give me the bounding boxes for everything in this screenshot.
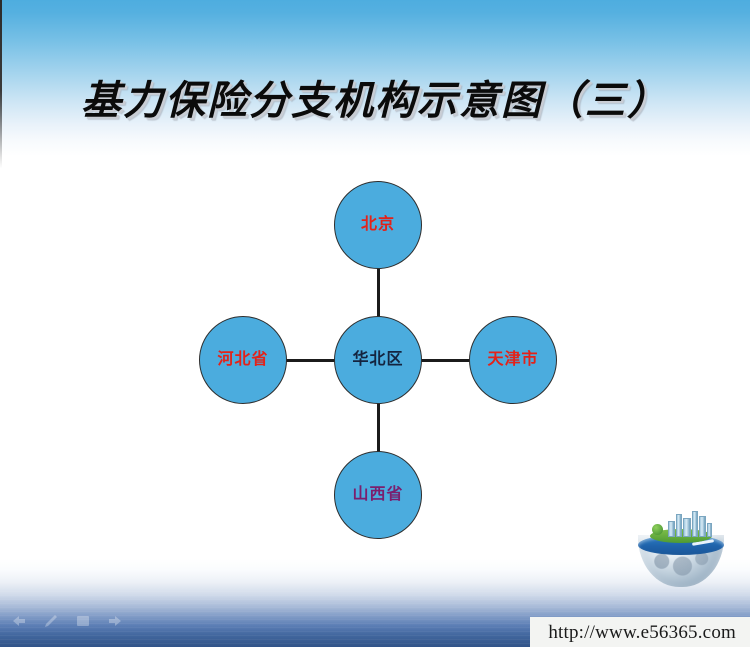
previous-arrow-icon[interactable] (10, 613, 28, 629)
site-url-watermark: http://www.e56365.com (548, 622, 736, 644)
slide-canvas: 基力保险分支机构示意图（三） 北京 河北省 华北区 天津市 山西省 (0, 0, 750, 647)
tree-icon (652, 524, 663, 535)
page-icon[interactable] (74, 613, 92, 629)
node-center-huabei[interactable]: 华北区 (334, 316, 422, 404)
node-label-center: 华北区 (352, 352, 403, 368)
node-label-bottom: 山西省 (352, 487, 403, 503)
connector-center-to-left (283, 359, 335, 362)
node-label-top: 北京 (361, 217, 395, 233)
node-top-beijing[interactable]: 北京 (334, 181, 422, 269)
globe-city-logo-icon (638, 511, 724, 589)
node-label-left: 河北省 (217, 352, 268, 368)
pen-icon[interactable] (42, 613, 60, 629)
node-right-tianjin[interactable]: 天津市 (469, 316, 557, 404)
city-skyline-icon (668, 511, 712, 537)
node-bottom-shanxi[interactable]: 山西省 (334, 451, 422, 539)
connector-center-to-bottom (377, 403, 380, 453)
node-label-right: 天津市 (487, 352, 538, 368)
node-left-hebei[interactable]: 河北省 (199, 316, 287, 404)
connector-center-to-top (377, 268, 380, 318)
slideshow-nav-bar[interactable] (10, 613, 124, 629)
connector-center-to-right (421, 359, 473, 362)
next-arrow-icon[interactable] (106, 613, 124, 629)
